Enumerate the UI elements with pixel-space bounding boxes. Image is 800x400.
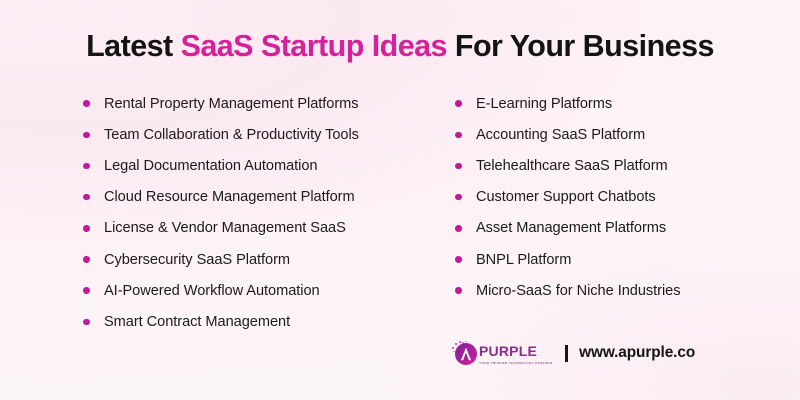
- list-item-label: Cloud Resource Management Platform: [104, 188, 355, 206]
- list-item: Rental Property Management Platforms: [80, 88, 450, 119]
- bullet-dot-icon: [83, 132, 90, 139]
- list-item-label: Micro-SaaS for Niche Industries: [476, 282, 680, 300]
- bullet-dot-icon: [83, 100, 90, 107]
- list-item: License & Vendor Management SaaS: [80, 213, 450, 244]
- wordmark-tagline: Your Trusted Technology Partner: [479, 361, 552, 365]
- ideas-column-left: Rental Property Management Platforms Tea…: [80, 88, 450, 338]
- list-item: BNPL Platform: [452, 244, 772, 275]
- bullet-dot-icon: [455, 194, 462, 201]
- footer-divider: [565, 345, 568, 362]
- list-item: Customer Support Chatbots: [452, 182, 772, 213]
- sparkle-dot-icon: [465, 341, 467, 343]
- bullet-dot-icon: [83, 256, 90, 263]
- ideas-column-right: E-Learning Platforms Accounting SaaS Pla…: [452, 88, 772, 306]
- list-item: Telehealthcare SaaS Platform: [452, 150, 772, 181]
- list-item: Asset Management Platforms: [452, 213, 772, 244]
- list-item-label: License & Vendor Management SaaS: [104, 219, 346, 237]
- apurple-wordmark: Purple Your Trusted Technology Partner: [479, 341, 552, 365]
- bullet-dot-icon: [83, 163, 90, 170]
- bullet-dot-icon: [83, 287, 90, 294]
- list-item: Micro-SaaS for Niche Industries: [452, 275, 772, 306]
- ideas-list-right: E-Learning Platforms Accounting SaaS Pla…: [452, 88, 772, 306]
- bullet-dot-icon: [455, 100, 462, 107]
- bullet-dot-icon: [455, 132, 462, 139]
- list-item: Accounting SaaS Platform: [452, 119, 772, 150]
- page-title-lead: Latest: [86, 29, 180, 63]
- list-item-label: BNPL Platform: [476, 251, 571, 269]
- list-item-label: Legal Documentation Automation: [104, 157, 318, 175]
- list-item-label: Smart Contract Management: [104, 313, 290, 331]
- bullet-dot-icon: [455, 287, 462, 294]
- poster-canvas: Latest SaaS Startup Ideas For Your Busin…: [0, 0, 800, 400]
- apurple-logo[interactable]: Purple Your Trusted Technology Partner: [452, 341, 552, 366]
- list-item-label: Rental Property Management Platforms: [104, 95, 359, 113]
- list-item: Cybersecurity SaaS Platform: [80, 244, 450, 275]
- list-item: Cloud Resource Management Platform: [80, 182, 450, 213]
- bullet-dot-icon: [455, 256, 462, 263]
- list-item: Legal Documentation Automation: [80, 150, 450, 181]
- list-item: AI-Powered Workflow Automation: [80, 275, 450, 306]
- list-item: Team Collaboration & Productivity Tools: [80, 119, 450, 150]
- list-item-label: Team Collaboration & Productivity Tools: [104, 126, 359, 144]
- letter-a-icon: [455, 343, 477, 365]
- list-item-label: AI-Powered Workflow Automation: [104, 282, 320, 300]
- page-title-accent: SaaS Startup Ideas: [181, 29, 447, 63]
- bullet-dot-icon: [455, 163, 462, 170]
- page-title: Latest SaaS Startup Ideas For Your Busin…: [0, 28, 800, 64]
- bullet-dot-icon: [455, 225, 462, 232]
- footer-brand-bar: Purple Your Trusted Technology Partner w…: [452, 333, 695, 373]
- list-item-label: E-Learning Platforms: [476, 95, 612, 113]
- list-item-label: Telehealthcare SaaS Platform: [476, 157, 668, 175]
- list-item-label: Accounting SaaS Platform: [476, 126, 645, 144]
- wordmark-text: Purple: [479, 341, 552, 360]
- bullet-dot-icon: [83, 194, 90, 201]
- list-item: E-Learning Platforms: [452, 88, 772, 119]
- site-url[interactable]: www.apurple.co: [579, 344, 695, 362]
- list-item-label: Cybersecurity SaaS Platform: [104, 251, 290, 269]
- bullet-dot-icon: [83, 319, 90, 326]
- list-item: Smart Contract Management: [80, 306, 450, 337]
- page-title-trail: For Your Business: [447, 29, 714, 63]
- page-title-wrapper: Latest SaaS Startup Ideas For Your Busin…: [0, 28, 800, 64]
- list-item-label: Customer Support Chatbots: [476, 188, 656, 206]
- ideas-list-left: Rental Property Management Platforms Tea…: [80, 88, 450, 338]
- apurple-logo-mark-icon: [452, 341, 477, 366]
- list-item-label: Asset Management Platforms: [476, 219, 666, 237]
- bullet-dot-icon: [83, 225, 90, 232]
